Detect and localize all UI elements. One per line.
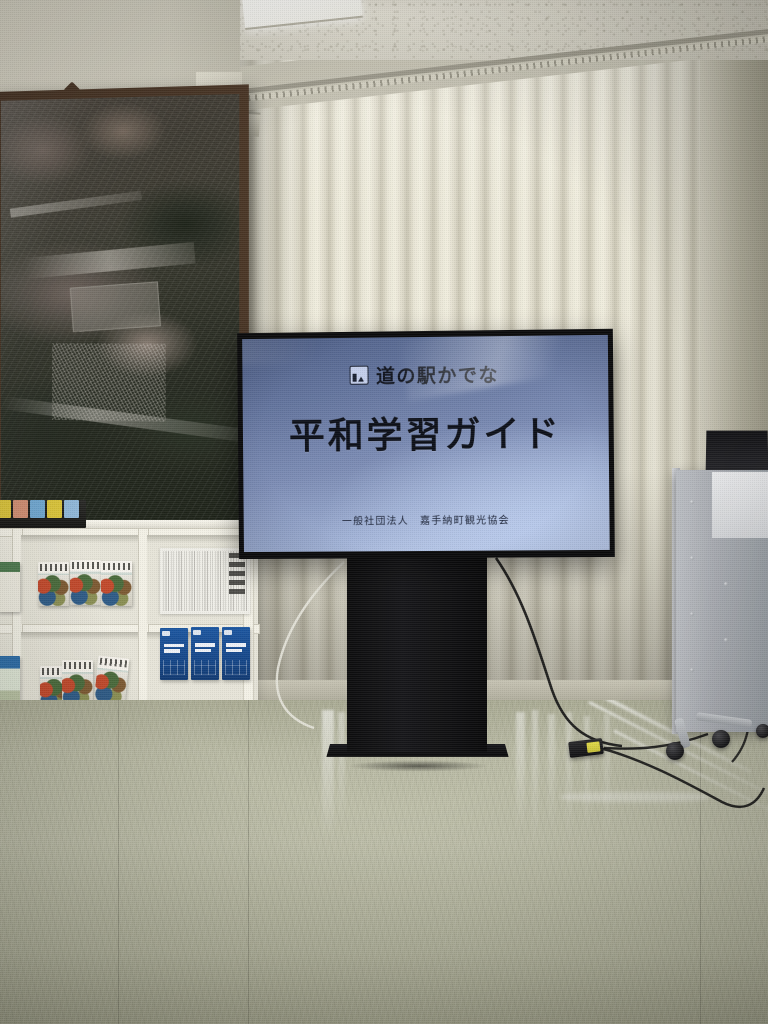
- podium-rivet: [724, 582, 728, 586]
- map-glass-glare: [1, 94, 239, 526]
- newspaper-article-clipping[interactable]: [160, 548, 250, 614]
- souvenir-card[interactable]: [64, 500, 79, 518]
- shelf-cell-shadow-c: [21, 632, 138, 640]
- drive-map-logo-icon: [162, 631, 169, 636]
- slide-title: 平和学習ガイド: [289, 405, 562, 459]
- souvenir-card[interactable]: [47, 500, 62, 518]
- caster-wheel: [756, 724, 768, 738]
- drive-map-title-line: [164, 649, 180, 653]
- drive-map-logo-icon: [224, 630, 231, 635]
- posted-notice-paper[interactable]: [712, 472, 768, 538]
- brochure-drive-map[interactable]: [191, 627, 219, 680]
- display-stand-column: [347, 556, 487, 752]
- michinoeki-logo-icon: [350, 366, 369, 385]
- adapter-sticker: [586, 741, 600, 753]
- drive-map-logo-icon: [193, 630, 200, 635]
- display-screen[interactable]: 道の駅かでな 平和学習ガイド 一般社団法人 嘉手納町観光協会: [242, 335, 610, 552]
- souvenir-card[interactable]: [13, 500, 28, 518]
- souvenir-cards[interactable]: [0, 498, 86, 518]
- room-photo-scene: 道の駅かでな 平和学習ガイド 一般社団法人 嘉手納町観光協会: [0, 0, 768, 1024]
- shelf-cell-shadow-a: [21, 535, 138, 543]
- podium-rivet: [690, 556, 694, 560]
- souvenir-card[interactable]: [0, 500, 11, 518]
- drive-map-thumbnail: [194, 660, 215, 675]
- drive-map-thumbnail: [163, 660, 184, 675]
- stand-shadow: [318, 758, 518, 774]
- podium-monitor[interactable]: [706, 431, 768, 474]
- cart-leg-assembly: [660, 716, 768, 750]
- drive-map-title-line: [164, 644, 184, 648]
- drive-map-title-line: [195, 649, 211, 653]
- caster-wheel: [666, 742, 684, 760]
- podium-rivet: [690, 668, 694, 672]
- drive-map-title-line: [195, 643, 215, 647]
- brochure-kadena-guide[interactable]: [94, 656, 130, 706]
- brochure-kadena-guide[interactable]: [38, 562, 69, 606]
- brochure-kadena-guide[interactable]: [70, 560, 101, 605]
- brochure-drive-map[interactable]: [160, 628, 188, 680]
- podium-rivet: [690, 612, 694, 616]
- shelf-cell-shadow-b: [147, 535, 243, 543]
- podium-rivet: [690, 500, 694, 504]
- brochure-green[interactable]: [0, 562, 20, 612]
- caster-wheel: [712, 730, 730, 748]
- brochure-kadena-guide[interactable]: [101, 561, 132, 606]
- digital-signage-display[interactable]: 道の駅かでな 平和学習ガイド 一般社団法人 嘉手納町観光協会: [237, 329, 615, 559]
- framed-aerial-map[interactable]: [0, 84, 249, 535]
- slide-footer-org: 一般社団法人 嘉手納町観光協会: [244, 511, 610, 528]
- souvenir-card[interactable]: [30, 500, 45, 518]
- podium-rivet: [724, 638, 728, 642]
